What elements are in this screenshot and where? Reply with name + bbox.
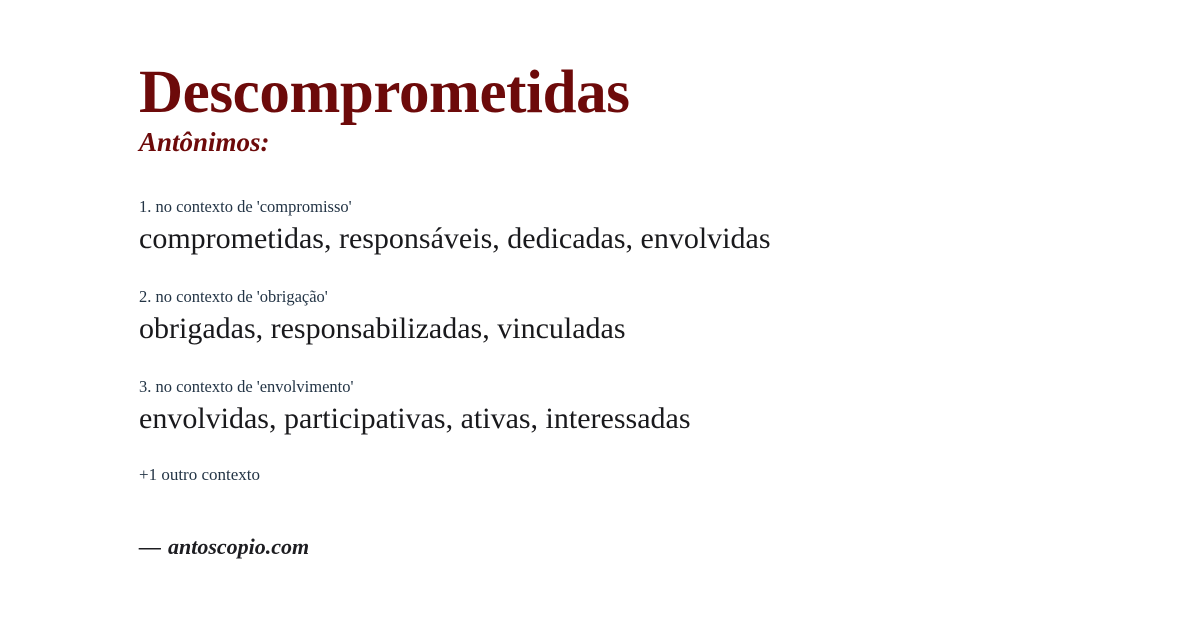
sense-antonyms: comprometidas, responsáveis, dedicadas, … <box>139 221 1170 256</box>
sense-context-label: 3. no contexto de 'envolvimento' <box>139 377 1170 398</box>
sense-antonyms: obrigadas, responsabilizadas, vinculadas <box>139 311 1170 346</box>
section-subtitle: Antônimos: <box>139 128 1160 158</box>
more-contexts-note: +1 outro contexto <box>139 464 260 485</box>
source-attribution: —antoscopio.com <box>139 534 309 560</box>
sense-entry: 1. no contexto de 'compromisso' comprome… <box>139 197 1170 256</box>
card-header: Descomprometidas Antônimos: <box>139 62 1160 158</box>
sense-list: 1. no contexto de 'compromisso' comprome… <box>139 197 1170 436</box>
source-name: antoscopio.com <box>168 534 309 559</box>
sense-antonyms: envolvidas, participativas, ativas, inte… <box>139 401 1170 436</box>
antonym-card: Descomprometidas Antônimos: 1. no contex… <box>0 0 1200 628</box>
em-dash-icon: — <box>139 534 161 559</box>
sense-entry: 3. no contexto de 'envolvimento' envolvi… <box>139 377 1170 436</box>
page-title: Descomprometidas <box>139 62 1160 124</box>
sense-context-label: 2. no contexto de 'obrigação' <box>139 287 1170 308</box>
sense-entry: 2. no contexto de 'obrigação' obrigadas,… <box>139 287 1170 346</box>
sense-context-label: 1. no contexto de 'compromisso' <box>139 197 1170 218</box>
